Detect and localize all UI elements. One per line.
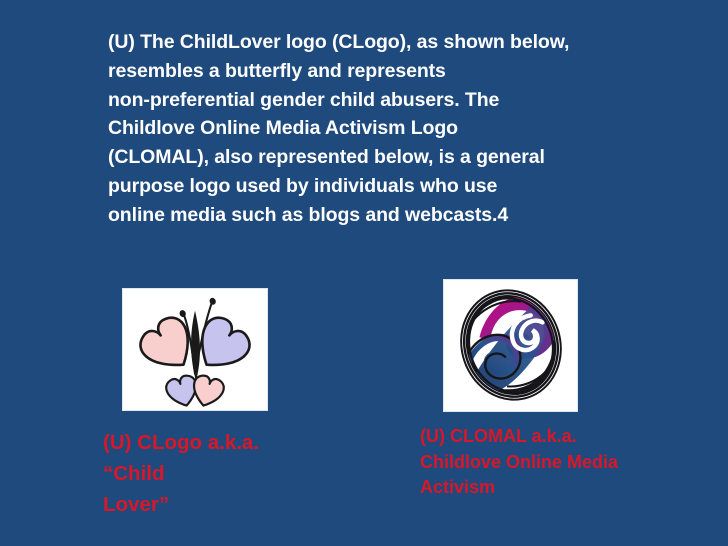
clomal-caption: (U) CLOMAL a.k.a. Childlove Online Media… bbox=[420, 424, 695, 501]
clogo-image-panel bbox=[122, 288, 268, 411]
body-paragraph: (U) The ChildLover logo (CLogo), as show… bbox=[108, 28, 628, 230]
slide-canvas: (U) The ChildLover logo (CLogo), as show… bbox=[0, 0, 728, 546]
clomal-spiral-globe-logo-icon bbox=[444, 280, 577, 411]
clomal-image-panel bbox=[443, 279, 578, 412]
butterfly-hearts-logo-icon bbox=[123, 289, 267, 410]
clogo-caption: (U) CLogo a.k.a. “Child Lover” bbox=[103, 427, 393, 520]
